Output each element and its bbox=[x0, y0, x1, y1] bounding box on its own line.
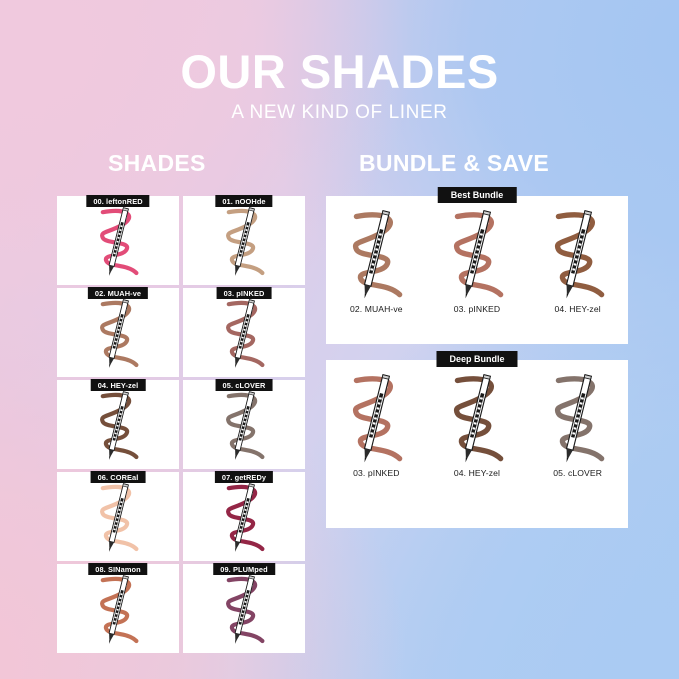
bundle-swatch bbox=[430, 204, 523, 302]
bundle-item[interactable]: 04. HEY-zel bbox=[531, 204, 624, 314]
shade-label: 03. pINKED bbox=[217, 287, 272, 299]
liner-swatch-icon bbox=[441, 206, 513, 301]
shade-swatch bbox=[183, 380, 305, 469]
bundle-section-heading: BUNDLE & SAVE bbox=[359, 150, 549, 177]
poster-header: OUR SHADES A NEW KIND OF LINER bbox=[0, 48, 679, 124]
shades-grid: 00. leftonRED 01. nOOHde bbox=[57, 196, 305, 653]
shade-label: 04. HEY-zel bbox=[91, 379, 146, 391]
liner-swatch-icon bbox=[542, 370, 614, 465]
shade-swatch bbox=[183, 288, 305, 377]
bundle-swatch bbox=[330, 368, 423, 466]
bundle-swatch bbox=[531, 368, 624, 466]
liner-swatch-icon bbox=[441, 370, 513, 465]
shade-swatch bbox=[57, 564, 179, 653]
bundle-item[interactable]: 04. HEY-zel bbox=[430, 368, 523, 478]
bundle-tag: Best Bundle bbox=[438, 187, 517, 203]
bundle-items: 02. MUAH-ve 03. pINKED bbox=[326, 204, 628, 344]
bundle-tag: Deep Bundle bbox=[436, 351, 517, 367]
liner-swatch-icon bbox=[90, 572, 146, 646]
liner-swatch-icon bbox=[216, 204, 272, 278]
liner-swatch-icon bbox=[216, 480, 272, 554]
page-subtitle: A NEW KIND OF LINER bbox=[0, 102, 679, 124]
shade-label: 00. leftonRED bbox=[86, 195, 149, 207]
shade-swatch bbox=[183, 196, 305, 285]
liner-swatch-icon bbox=[216, 296, 272, 370]
shade-swatch bbox=[57, 380, 179, 469]
shade-card[interactable]: 05. cLOVER bbox=[183, 380, 305, 469]
shade-card[interactable]: 06. COREal bbox=[57, 472, 179, 561]
bundle-item[interactable]: 03. pINKED bbox=[330, 368, 423, 478]
bundle-item-label: 05. cLOVER bbox=[531, 468, 624, 478]
shade-label: 05. cLOVER bbox=[216, 379, 273, 391]
bundle-swatch bbox=[330, 204, 423, 302]
shade-card[interactable]: 04. HEY-zel bbox=[57, 380, 179, 469]
shade-label: 08. SINamon bbox=[88, 563, 147, 575]
liner-swatch-icon bbox=[340, 370, 412, 465]
bundle-panel-best[interactable]: Best Bundle 02. MUAH-ve bbox=[326, 196, 628, 344]
shade-card[interactable]: 09. PLUMped bbox=[183, 564, 305, 653]
shade-label: 01. nOOHde bbox=[215, 195, 272, 207]
shade-card[interactable]: 01. nOOHde bbox=[183, 196, 305, 285]
shade-label: 06. COREal bbox=[91, 471, 146, 483]
shade-card[interactable]: 03. pINKED bbox=[183, 288, 305, 377]
bundle-item-label: 03. pINKED bbox=[330, 468, 423, 478]
shade-label: 09. PLUMped bbox=[213, 563, 275, 575]
shade-swatch bbox=[183, 564, 305, 653]
liner-swatch-icon bbox=[90, 296, 146, 370]
shade-card[interactable]: 00. leftonRED bbox=[57, 196, 179, 285]
bundle-item-label: 04. HEY-zel bbox=[430, 468, 523, 478]
bundle-panel-deep[interactable]: Deep Bundle 03. pINKED bbox=[326, 360, 628, 528]
liner-swatch-icon bbox=[90, 480, 146, 554]
shade-card[interactable]: 08. SINamon bbox=[57, 564, 179, 653]
poster-canvas: OUR SHADES A NEW KIND OF LINER SHADES BU… bbox=[0, 0, 679, 679]
bundle-swatch bbox=[430, 368, 523, 466]
liner-swatch-icon bbox=[340, 206, 412, 301]
bundle-item-label: 03. pINKED bbox=[430, 304, 523, 314]
shade-swatch bbox=[57, 196, 179, 285]
liner-swatch-icon bbox=[90, 204, 146, 278]
liner-swatch-icon bbox=[90, 388, 146, 462]
page-title: OUR SHADES bbox=[0, 48, 679, 95]
bundle-item[interactable]: 03. pINKED bbox=[430, 204, 523, 314]
shade-swatch bbox=[57, 472, 179, 561]
bundle-item[interactable]: 05. cLOVER bbox=[531, 368, 624, 478]
shade-label: 02. MUAH-ve bbox=[88, 287, 148, 299]
bundle-items: 03. pINKED 04. HEY-zel bbox=[326, 368, 628, 528]
shade-swatch bbox=[183, 472, 305, 561]
liner-swatch-icon bbox=[216, 388, 272, 462]
bundle-swatch bbox=[531, 204, 624, 302]
liner-swatch-icon bbox=[216, 572, 272, 646]
bundle-item[interactable]: 02. MUAH-ve bbox=[330, 204, 423, 314]
liner-swatch-icon bbox=[542, 206, 614, 301]
shade-swatch bbox=[57, 288, 179, 377]
shade-card[interactable]: 02. MUAH-ve bbox=[57, 288, 179, 377]
bundle-item-label: 02. MUAH-ve bbox=[330, 304, 423, 314]
shade-card[interactable]: 07. getREDy bbox=[183, 472, 305, 561]
bundle-item-label: 04. HEY-zel bbox=[531, 304, 624, 314]
shade-label: 07. getREDy bbox=[215, 471, 273, 483]
shades-section-heading: SHADES bbox=[108, 150, 206, 177]
